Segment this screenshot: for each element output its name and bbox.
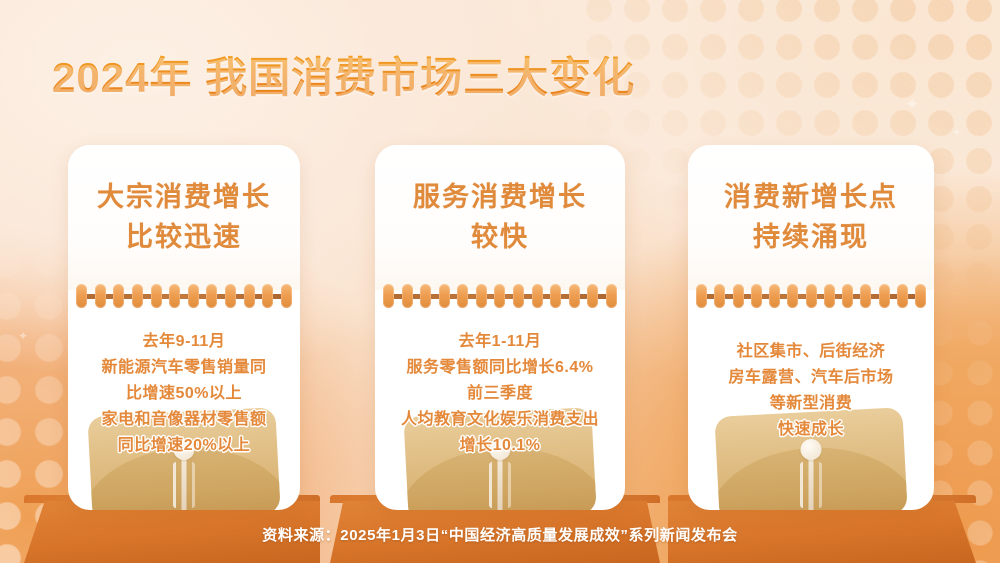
card-1-body-line-2: 新能源汽车零售销量同 — [101, 355, 266, 381]
card-2[interactable]: 服务消费增长 较快 去年1-11月 服务零售额同比增长6.4% 前三季度 人均教… — [375, 145, 625, 510]
binding-rings — [383, 283, 617, 309]
card-3-heading-line-2: 持续涌现 — [753, 218, 869, 258]
card-3-body-line-2: 房车露营、汽车后市场 — [728, 365, 893, 391]
source-note: 资料来源：2025年1月3日“中国经济高质量发展成效”系列新闻发布会 — [0, 524, 1000, 545]
card-1-body-line-3: 比增速50%以上 — [126, 381, 242, 407]
card-3-body-line-3: 等新型消费 — [770, 391, 853, 417]
card-2-heading: 服务消费增长 较快 — [375, 145, 625, 290]
microphone-arm-icon — [489, 462, 511, 508]
card-3-body-line-4: 快速成长 — [778, 417, 844, 443]
microphone-arm-icon — [800, 462, 822, 508]
card-1[interactable]: 大宗消费增长 比较迅速 去年9-11月 新能源汽车零售销量同 比增速50%以上 … — [68, 145, 300, 510]
card-2-body-line-2: 服务零售额同比增长6.4% — [407, 355, 594, 381]
card-1-heading-line-2: 比较迅速 — [126, 218, 242, 258]
binding-rings — [76, 283, 292, 309]
card-2-body: 去年1-11月 服务零售额同比增长6.4% 前三季度 人均教育文化娱乐消费支出 … — [375, 313, 625, 510]
card-1-body-line-1: 去年9-11月 — [143, 329, 226, 355]
card-3[interactable]: 消费新增长点 持续涌现 社区集市、后街经济 房车露营、汽车后市场 等新型消费 快… — [688, 145, 934, 510]
card-3-spiral-binding — [688, 283, 934, 309]
card-2-heading-line-1: 服务消费增长 — [413, 178, 587, 218]
card-2-spiral-binding — [375, 283, 625, 309]
card-2-body-line-1: 去年1-11月 — [459, 329, 542, 355]
card-2-body-line-3: 前三季度 — [467, 381, 533, 407]
binding-rings — [696, 283, 926, 309]
card-1-heading: 大宗消费增长 比较迅速 — [68, 145, 300, 290]
card-3-body: 社区集市、后街经济 房车露营、汽车后市场 等新型消费 快速成长 — [688, 313, 934, 510]
card-2-body-line-4: 人均教育文化娱乐消费支出 — [401, 407, 599, 433]
card-3-body-line-1: 社区集市、后街经济 — [737, 339, 886, 365]
card-1-body-line-4: 家电和音像器材零售额 — [101, 407, 266, 433]
card-2-body-line-5: 增长10.1% — [460, 433, 541, 459]
card-2-heading-line-2: 较快 — [471, 218, 529, 258]
sparkle-icon: ✦ — [905, 96, 919, 113]
sparkle-icon: ✦ — [18, 330, 28, 342]
page-title: 2024年 我国消费市场三大变化 — [52, 44, 635, 105]
card-1-heading-line-1: 大宗消费增长 — [97, 178, 271, 218]
card-1-body: 去年9-11月 新能源汽车零售销量同 比增速50%以上 家电和音像器材零售额 同… — [68, 313, 300, 510]
card-1-spiral-binding — [68, 283, 300, 309]
infographic-canvas: ✦ ✦ ✦ ✦ 2024年 我国消费市场三大变化 大宗消费增长 比较迅速 — [0, 0, 1000, 563]
card-1-body-line-5: 同比增速20%以上 — [118, 433, 251, 459]
microphone-arm-icon — [173, 462, 195, 508]
card-3-heading-line-1: 消费新增长点 — [724, 178, 898, 218]
sparkle-icon: ✦ — [952, 128, 961, 139]
card-3-heading: 消费新增长点 持续涌现 — [688, 145, 934, 290]
